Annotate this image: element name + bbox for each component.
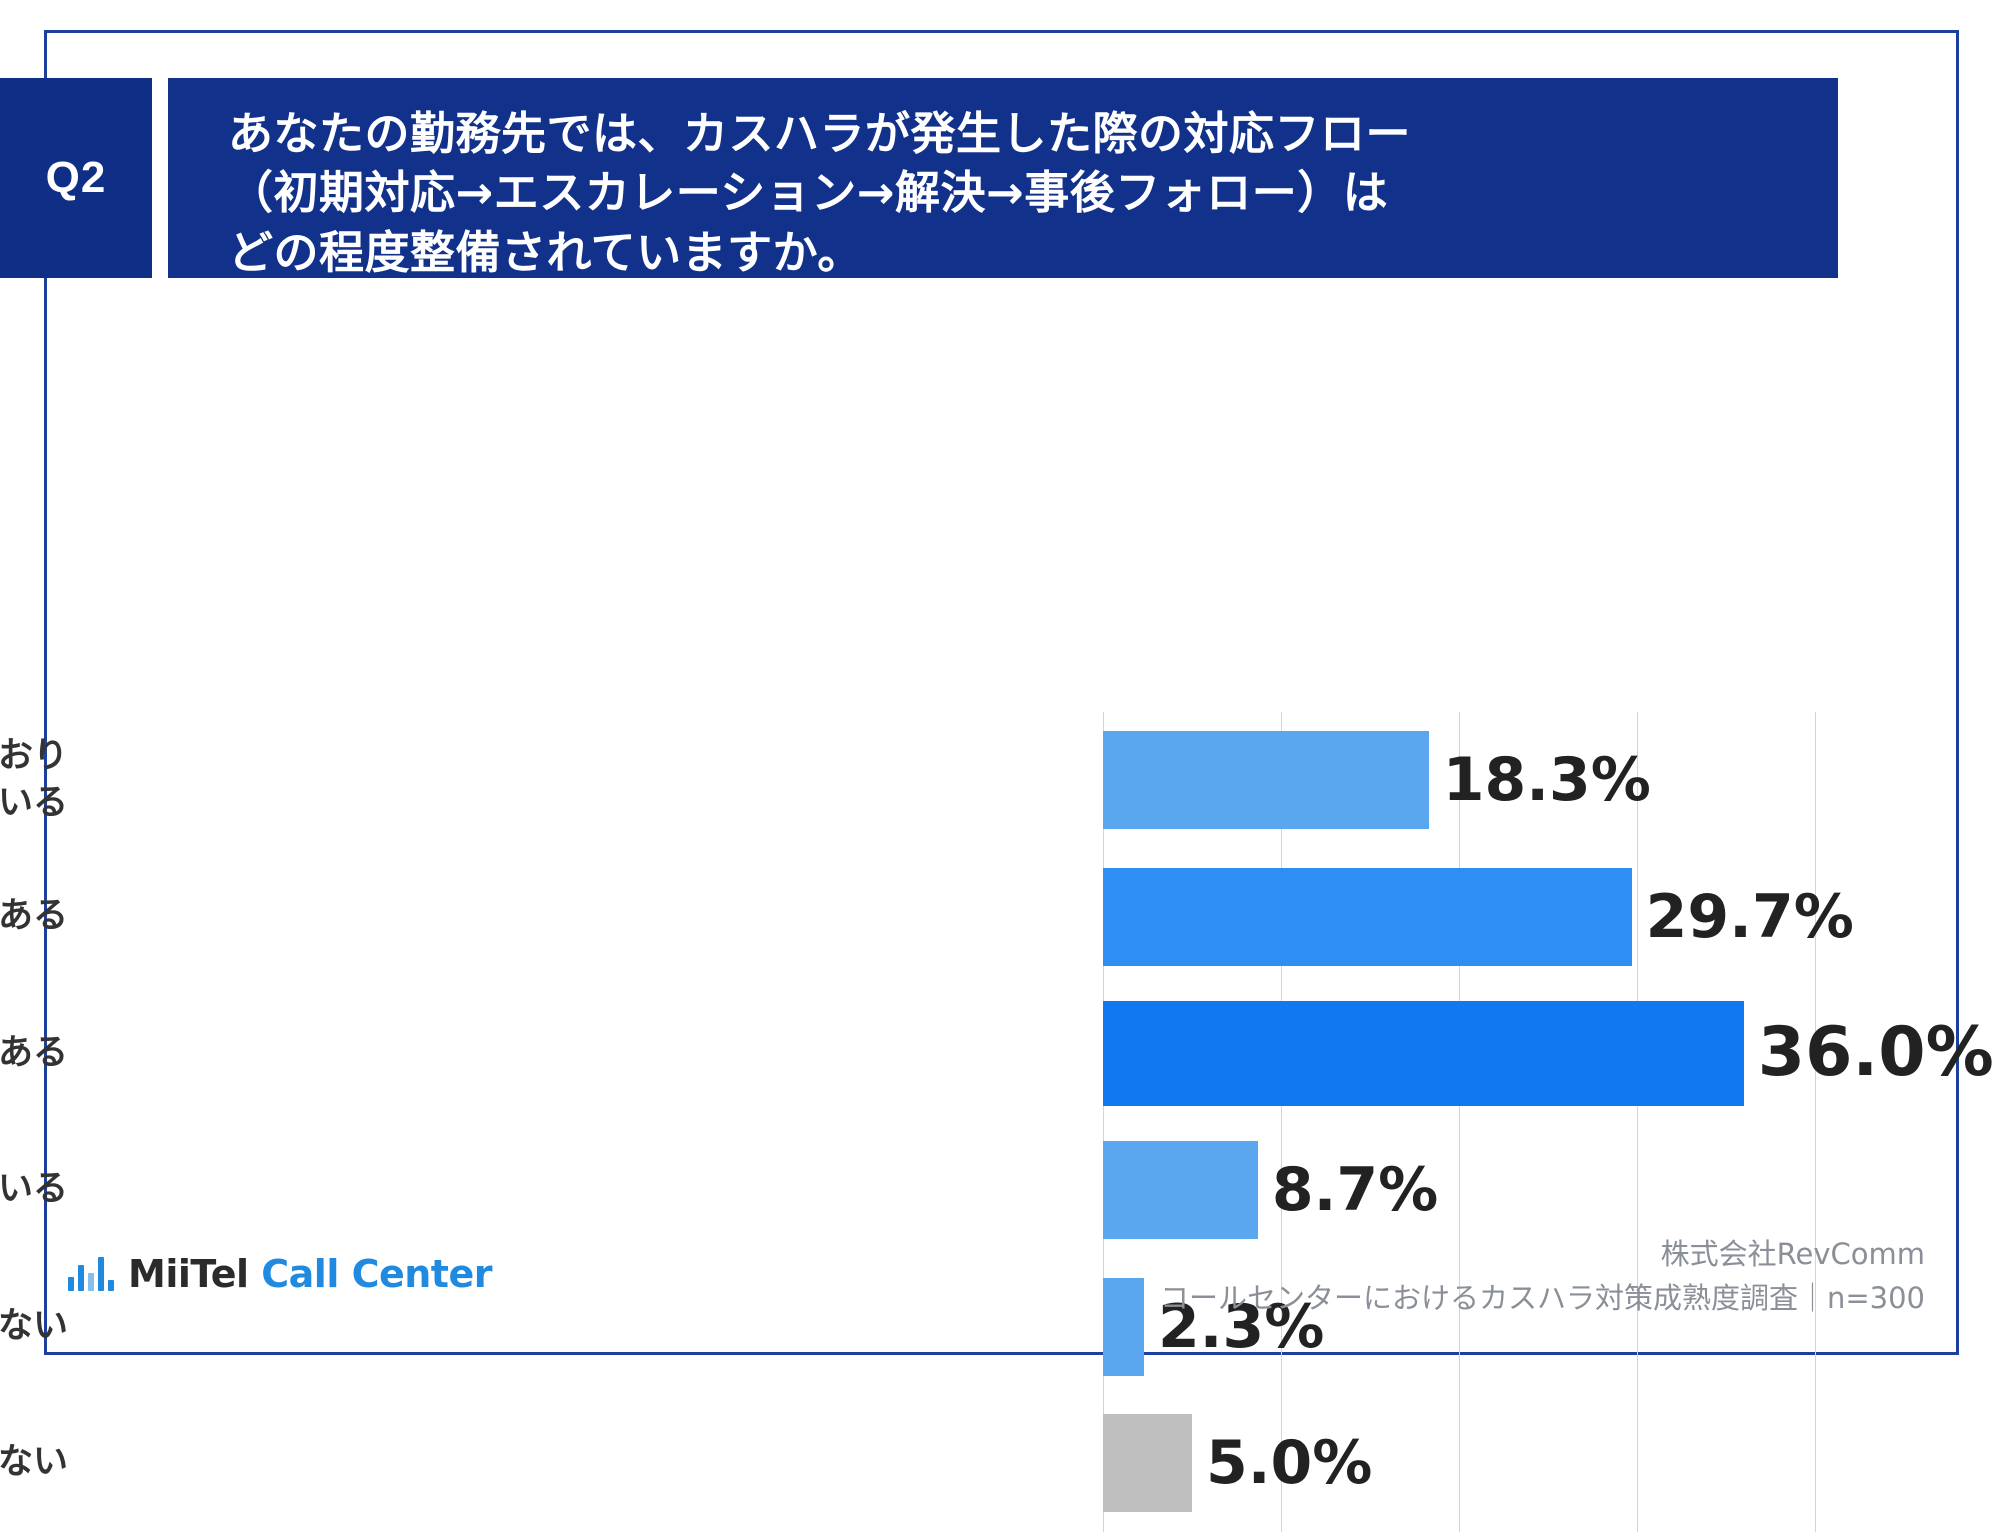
survey-credits: 株式会社RevComm コールセンターにおけるカスハラ対策成熟度調査｜n=300 [1160,1233,1925,1320]
chart-category-label: わからない/答えられない [0,1395,68,1532]
chart-row: 明文化されているが運用面で課題がある29.7% [0,849,2003,986]
category-label-line-1: ある程度整備されているが不十分な部分がある [0,1030,68,1078]
question-number-badge: Q2 [0,78,152,278]
chart-bar-group: 18.3% [1103,712,1651,849]
bar-chart: 完全に明文化・標準化されており運用も徹底されている18.3%明文化されているが運… [0,300,2003,1230]
credit-company: 株式会社RevComm [1160,1233,1925,1277]
chart-value-label: 36.0% [1758,1019,1994,1087]
category-label-line-2: 運用も徹底されている [0,780,68,828]
chart-value-label: 8.7% [1272,1160,1438,1220]
chart-row: 完全に明文化・標準化されており運用も徹底されている18.3% [0,712,2003,849]
chart-bar [1103,1001,1744,1106]
category-label-line-1: ほとんど整備されていない [0,1303,68,1351]
chart-category-label: 完全に明文化・標準化されており運用も徹底されている [0,712,68,849]
chart-rows: 完全に明文化・標準化されており運用も徹底されている18.3%明文化されているが運… [0,712,2003,1532]
credit-survey: コールセンターにおけるカスハラ対策成熟度調査｜n=300 [1160,1277,1925,1321]
chart-category-label: 明文化されているが運用面で課題がある [0,849,68,986]
chart-category-label: ある程度整備されているが不十分な部分がある [0,985,68,1122]
chart-bar [1103,1141,1258,1239]
question-title-line-3: どの程度整備されていますか。 [228,223,1838,282]
chart-bar [1103,1414,1192,1512]
category-label-line-1: 完全に明文化・標準化されており [0,733,68,781]
chart-bar-group: 29.7% [1103,849,1854,986]
question-title-bar: あなたの勤務先では、カスハラが発生した際の対応フロー （初期対応→エスカレーショ… [168,78,1838,278]
chart-value-label: 5.0% [1206,1433,1372,1493]
question-title-line-1: あなたの勤務先では、カスハラが発生した際の対応フロー [228,104,1838,163]
chart-value-label: 29.7% [1646,887,1854,947]
chart-row: わからない/答えられない5.0% [0,1395,2003,1532]
category-label-line-1: 最低限の整備にとどまっている [0,1166,68,1214]
category-label-line-1: わからない/答えられない [0,1439,68,1487]
miitel-call-center-logo: MiiTel Call Center [68,1252,492,1296]
chart-row: ある程度整備されているが不十分な部分がある36.0% [0,985,2003,1122]
chart-bar [1103,731,1429,829]
logo-text-miitel: MiiTel [128,1252,249,1296]
chart-bar-group: 36.0% [1103,985,1994,1122]
slide-page: Q2 あなたの勤務先では、カスハラが発生した際の対応フロー （初期対応→エスカレ… [0,0,2003,1385]
logo-text-call-center: Call Center [261,1252,492,1296]
category-label-line-1: 明文化されているが運用面で課題がある [0,893,68,941]
chart-category-label: 最低限の整備にとどまっている [0,1122,68,1259]
question-number-label: Q2 [46,153,107,203]
chart-bar [1103,868,1632,966]
question-title-line-2: （初期対応→エスカレーション→解決→事後フォロー）は [228,163,1838,222]
logo-wordmark: MiiTel Call Center [128,1252,492,1296]
chart-bar-group: 5.0% [1103,1395,1372,1532]
chart-value-label: 18.3% [1443,750,1651,810]
waveform-icon [68,1257,114,1291]
chart-category-label: ほとんど整備されていない [0,1258,68,1395]
chart-bar [1103,1278,1144,1376]
